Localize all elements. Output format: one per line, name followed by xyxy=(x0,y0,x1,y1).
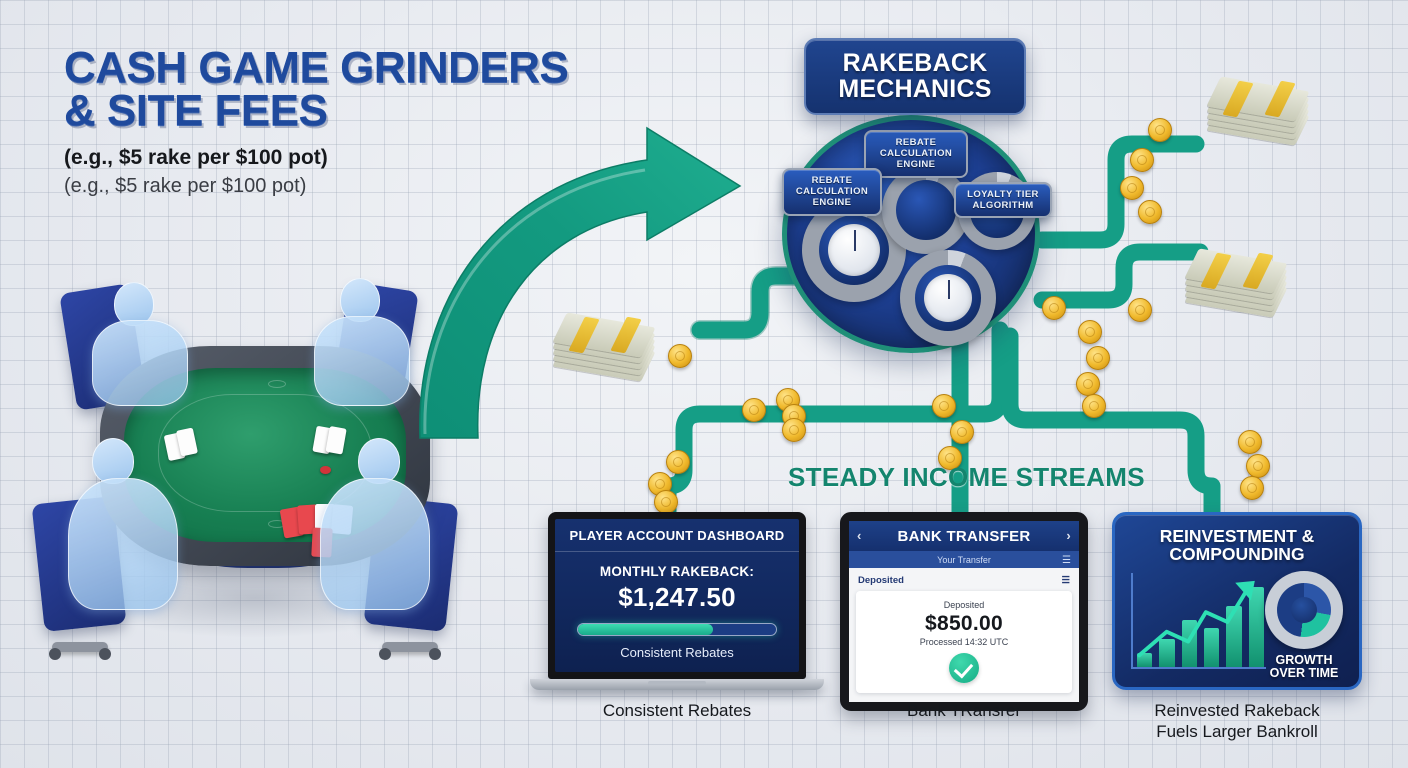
chip-loyalty-tier-algorithm[interactable]: LOYALTY TIER ALGORITHM xyxy=(954,182,1052,218)
cash-stack-mid-right xyxy=(1188,254,1284,312)
coin xyxy=(782,418,806,442)
check-icon xyxy=(949,653,979,683)
tablet-body: Deposited ☰ Deposited $850.00 Processed … xyxy=(849,568,1079,702)
donut-hole xyxy=(1291,597,1317,623)
growth-bar-chart xyxy=(1131,573,1266,669)
coin xyxy=(1130,148,1154,172)
reinvestment-title-line-2: COMPOUNDING xyxy=(1169,544,1304,564)
receipt-timestamp: Processed 14:32 UTC xyxy=(862,637,1066,647)
coin xyxy=(1148,118,1172,142)
bank-transfer-title: BANK TRANSFER xyxy=(897,528,1030,545)
transfer-list-label: Deposited xyxy=(858,575,904,586)
chip-label: REBATE CALCULATION ENGINE xyxy=(880,137,952,170)
reinvestment-title-line-1: REINVESTMENT & xyxy=(1160,526,1315,546)
coin xyxy=(742,398,766,422)
pipe-upper-right xyxy=(1042,144,1196,240)
coin xyxy=(1086,346,1110,370)
transfer-subbar: Your Transfer ☰ xyxy=(849,551,1079,568)
infographic-canvas: CASH GAME GRINDERS & SITE FEES (e.g., $5… xyxy=(0,0,1408,768)
steady-income-streams-label: STEADY INCOME STREAMS xyxy=(788,462,1145,493)
bank-transfer-caption: Bank TRansrer xyxy=(840,700,1088,721)
gear-bottom-center xyxy=(900,250,996,346)
coin xyxy=(1128,298,1152,322)
laptop-screen-bezel: PLAYER ACCOUNT DASHBOARD MONTHLY RAKEBAC… xyxy=(548,512,806,679)
coin xyxy=(666,450,690,474)
reinvestment-caption-line-1: Reinvested Rakeback xyxy=(1154,701,1319,720)
reinvestment-card: REINVESTMENT & COMPOUNDING GROWTH OVER xyxy=(1112,512,1362,690)
tablet-bezel: ‹ BANK TRANSFER › Your Transfer ☰ Deposi… xyxy=(840,512,1088,711)
gauge-label-line-2: OVER TIME xyxy=(1270,666,1339,680)
coin xyxy=(1082,394,1106,418)
coin xyxy=(1138,200,1162,224)
transfer-subbar-label: Your Transfer xyxy=(937,555,991,565)
hub-title: RAKEBACK MECHANICS xyxy=(804,38,1026,115)
coin xyxy=(668,344,692,368)
transfer-list-row[interactable]: Deposited ☰ xyxy=(856,573,1072,591)
reinvestment-caption-line-2: Fuels Larger Bankroll xyxy=(1156,722,1318,741)
gauge-label-line-1: GROWTH xyxy=(1276,653,1333,667)
gauge-dial xyxy=(828,224,880,276)
pipe-mid-right xyxy=(1042,252,1200,300)
player-dashboard-card: PLAYER ACCOUNT DASHBOARD MONTHLY RAKEBAC… xyxy=(548,512,806,690)
cash-stack-center xyxy=(556,318,652,376)
receipt-label: Deposited xyxy=(862,600,1066,610)
dashboard-header: PLAYER ACCOUNT DASHBOARD xyxy=(555,519,799,552)
gauge-label: GROWTH OVER TIME xyxy=(1263,654,1345,680)
gauge-dial xyxy=(924,274,972,322)
coin xyxy=(1246,454,1270,478)
bank-transfer-header: ‹ BANK TRANSFER › xyxy=(849,521,1079,551)
laptop-screen: PLAYER ACCOUNT DASHBOARD MONTHLY RAKEBAC… xyxy=(555,519,799,672)
coin xyxy=(1120,176,1144,200)
dashboard-amount: $1,247.50 xyxy=(555,582,799,613)
chip-label: LOYALTY TIER ALGORITHM xyxy=(967,189,1039,211)
receipt-amount: $850.00 xyxy=(862,612,1066,636)
dashboard-screen-caption: Consistent Rebates xyxy=(555,645,799,660)
coin xyxy=(932,394,956,418)
coin xyxy=(1238,430,1262,454)
receipt-card: Deposited $850.00 Processed 14:32 UTC xyxy=(856,591,1072,693)
coin xyxy=(1240,476,1264,500)
growth-donut-gauge xyxy=(1265,571,1343,649)
next-arrow-icon[interactable]: › xyxy=(1066,528,1071,543)
chip-rebate-calculation-engine-left[interactable]: REBATE CALCULATION ENGINE xyxy=(782,168,882,216)
coin xyxy=(950,420,974,444)
coin xyxy=(654,490,678,514)
prev-arrow-icon[interactable]: ‹ xyxy=(857,528,862,543)
rakeback-mechanics-hub: REBATE CALCULATION ENGINE REBATE CALCULA… xyxy=(772,110,1062,360)
progress-fill xyxy=(578,624,713,635)
dashboard-metric-label: MONTHLY RAKEBACK: xyxy=(555,564,799,579)
reinvestment-title: REINVESTMENT & COMPOUNDING xyxy=(1115,515,1359,563)
coin xyxy=(1076,372,1100,396)
cash-stack-top-right xyxy=(1210,82,1306,140)
laptop-base xyxy=(530,679,824,690)
coin xyxy=(1078,320,1102,344)
reinvestment-caption: Reinvested Rakeback Fuels Larger Bankrol… xyxy=(1104,700,1370,743)
gear-core xyxy=(896,180,956,240)
rakeback-progress-bar xyxy=(577,623,777,636)
dashboard-caption: Consistent Rebates xyxy=(548,700,806,721)
menu-icon[interactable]: ☰ xyxy=(1062,555,1071,566)
list-menu-icon[interactable]: ☰ xyxy=(1061,575,1070,586)
chip-label: REBATE CALCULATION ENGINE xyxy=(796,175,868,208)
bank-transfer-card: ‹ BANK TRANSFER › Your Transfer ☰ Deposi… xyxy=(840,512,1088,711)
trend-arrow-icon xyxy=(1133,573,1266,667)
